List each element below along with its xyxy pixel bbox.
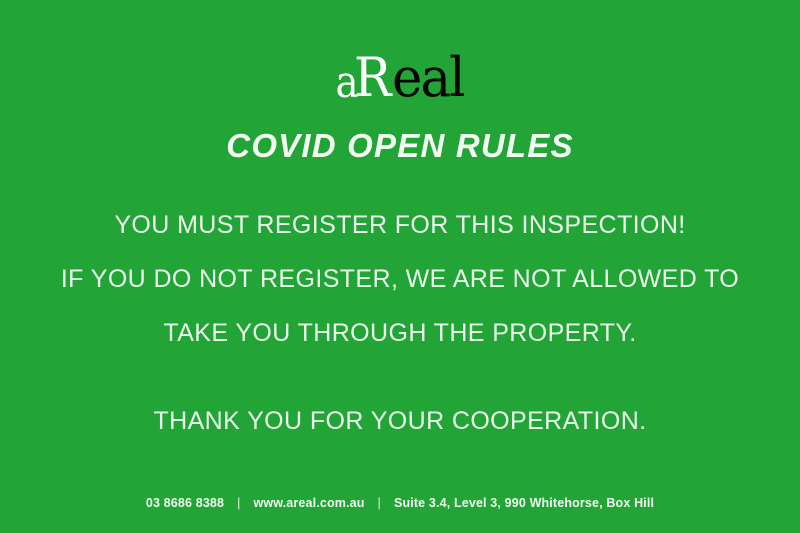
footer-separator-1: | [224, 495, 253, 511]
brand-logo: aReal [0, 40, 800, 110]
logo-letter-r: R [354, 50, 389, 106]
footer-address: Suite 3.4, Level 3, 990 Whitehorse, Box … [394, 495, 654, 511]
notice-body: YOU MUST REGISTER FOR THIS INSPECTION! I… [0, 198, 800, 448]
notice-line-1: YOU MUST REGISTER FOR THIS INSPECTION! [0, 198, 800, 252]
logo-letter-a: a [335, 55, 354, 111]
brand-logo-wordmark: aReal [333, 50, 467, 110]
logo-letters-eal: eal [392, 50, 464, 106]
covid-rules-poster: aReal COVID OPEN RULES YOU MUST REGISTER… [0, 0, 800, 533]
notice-line-3: TAKE YOU THROUGH THE PROPERTY. [0, 306, 800, 360]
footer-website[interactable]: www.areal.com.au [254, 495, 365, 511]
footer-phone[interactable]: 03 8686 8388 [146, 495, 224, 511]
notice-line-2: IF YOU DO NOT REGISTER, WE ARE NOT ALLOW… [0, 252, 800, 306]
footer-separator-2: | [365, 495, 394, 511]
page-title: COVID OPEN RULES [0, 126, 800, 166]
contact-footer: 03 8686 8388|www.areal.com.au|Suite 3.4,… [0, 495, 800, 511]
notice-line-4: THANK YOU FOR YOUR COOPERATION. [0, 394, 800, 448]
